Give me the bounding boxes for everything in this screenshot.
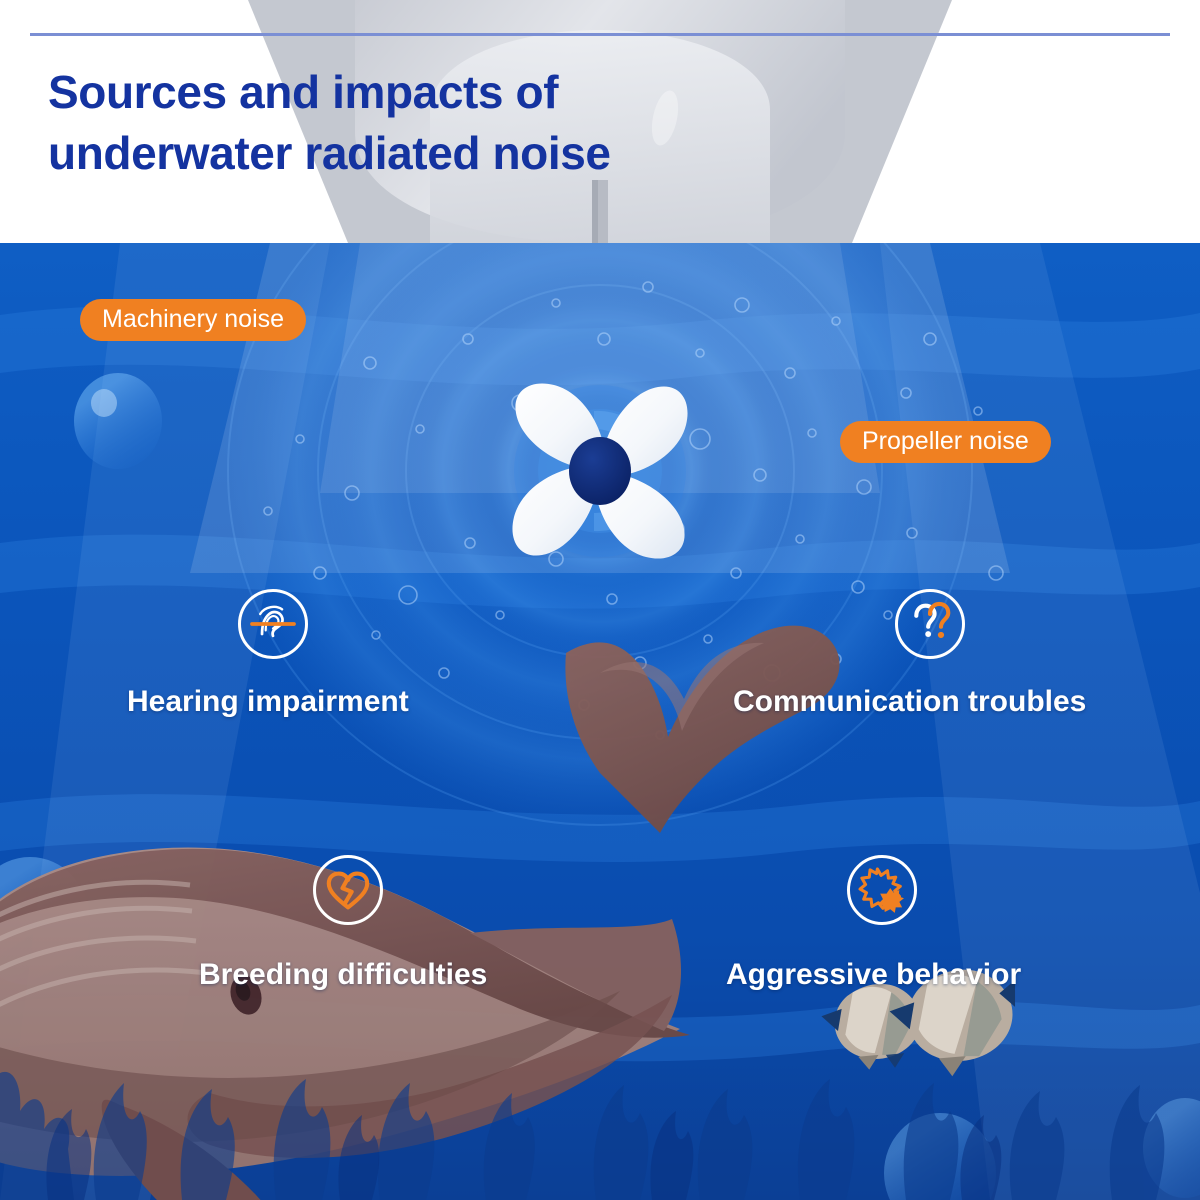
- label-machinery-noise[interactable]: Machinery noise: [80, 299, 306, 341]
- impact-label-communication-troubles: Communication troubles: [733, 687, 1086, 717]
- impact-label-aggressive-behavior: Aggressive behavior: [726, 960, 1021, 990]
- ocean-scene: [0, 243, 1200, 1200]
- label-propeller-noise[interactable]: Propeller noise: [840, 421, 1051, 463]
- propeller: [512, 383, 687, 558]
- ear-crossed-icon: [238, 589, 308, 659]
- header-band: Sources and impacts of underwater radiat…: [0, 0, 1200, 243]
- infographic-root: Sources and impacts of underwater radiat…: [0, 0, 1200, 1200]
- starburst-icon: [847, 855, 917, 925]
- impact-label-breeding-difficulties: Breeding difficulties: [199, 960, 487, 990]
- impact-label-hearing-impairment: Hearing impairment: [127, 687, 409, 717]
- page-title: Sources and impacts of underwater radiat…: [48, 62, 611, 183]
- broken-heart-icon: [313, 855, 383, 925]
- question-marks-icon: [895, 589, 965, 659]
- ocean-illustration: [0, 243, 1200, 1200]
- header-divider-rule: [30, 33, 1170, 36]
